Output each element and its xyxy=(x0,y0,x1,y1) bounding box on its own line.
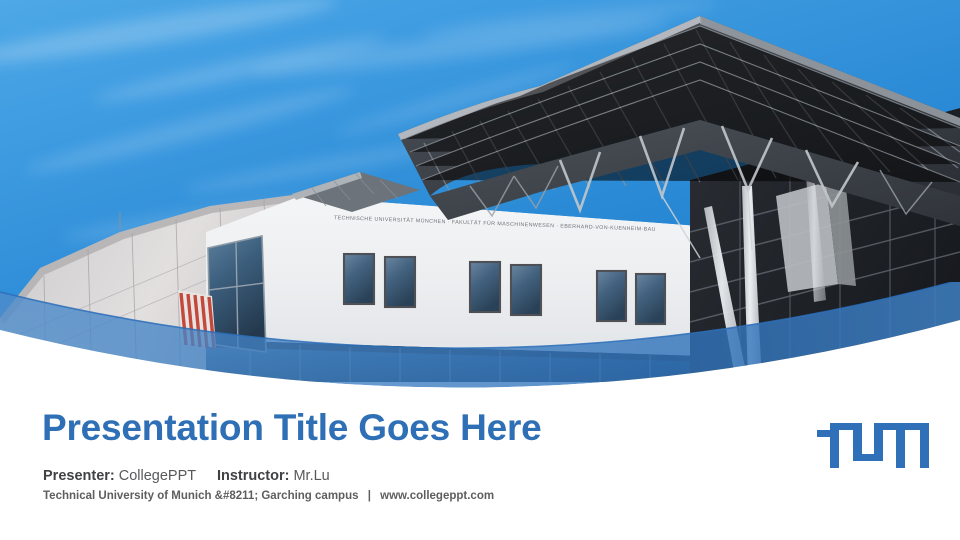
curved-arc-divider xyxy=(0,282,960,392)
instructor-label: Instructor: xyxy=(217,468,290,484)
page-title: Presentation Title Goes Here xyxy=(42,407,542,449)
footer-separator: | xyxy=(362,490,377,502)
website-text[interactable]: www.collegeppt.com xyxy=(380,490,494,502)
tum-logo-mark xyxy=(817,422,929,468)
presenter-label: Presenter: xyxy=(43,468,115,484)
byline: Presenter: CollegePPT Instructor: Mr.Lu xyxy=(43,468,330,484)
affiliation-text: Technical University of Munich &#8211; G… xyxy=(43,490,359,502)
instructor-value: Mr.Lu xyxy=(293,468,329,484)
footer-line: Technical University of Munich &#8211; G… xyxy=(43,490,494,502)
presentation-slide: TECHNISCHE UNIVERSITÄT MÜNCHEN · FAKULTÄ… xyxy=(0,0,960,540)
presenter-value: CollegePPT xyxy=(119,468,196,484)
tum-logo xyxy=(817,422,929,468)
